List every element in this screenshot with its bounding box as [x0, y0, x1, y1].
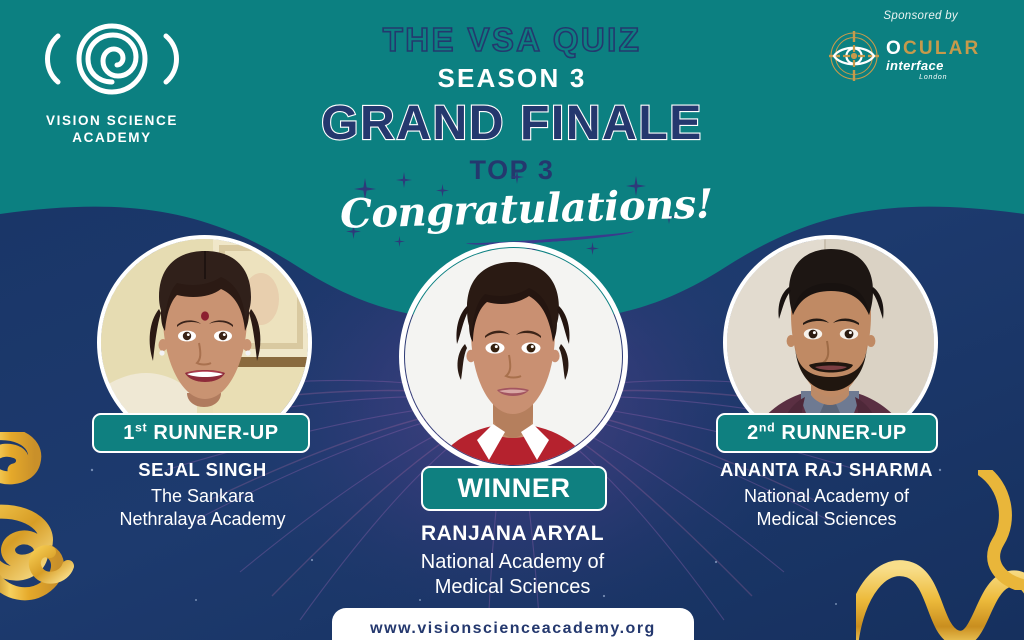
person-name-3: ANANTA RAJ SHARMA	[684, 458, 969, 482]
person-affiliation-3a: National Academy of	[684, 484, 969, 509]
person-winner: RANJANA ARYAL National Academy of Medica…	[370, 520, 655, 601]
four-point-star-icon	[586, 242, 599, 255]
headline-block: THE VSA QUIZ SEASON 3 GRAND FINALE TOP 3	[0, 20, 1024, 186]
four-point-star-icon	[394, 236, 405, 247]
badge-second-runner-up: 2nd RUNNER-UP	[716, 413, 938, 453]
badge-first-runner-up-label: 1st RUNNER-UP	[123, 422, 279, 445]
badge-first-runner-up: 1st RUNNER-UP	[92, 413, 310, 453]
photo-winner	[405, 248, 622, 465]
headline-quiz: THE VSA QUIZ	[0, 20, 1024, 60]
four-point-star-icon	[396, 172, 412, 188]
badge-rank-1st: 1st	[123, 422, 147, 444]
badge-rank-suffix-2: RUNNER-UP	[775, 422, 907, 444]
badge-winner-label: WINNER	[457, 473, 570, 504]
badge-rank-2nd: 2nd	[747, 422, 775, 444]
person-affiliation-2a: National Academy of	[370, 549, 655, 576]
badge-rank-suffix-1: RUNNER-UP	[147, 422, 279, 444]
person-affiliation-2b: Medical Sciences	[370, 574, 655, 601]
footer-url-text[interactable]: www.visionscienceacademy.org	[370, 620, 656, 638]
gold-ribbon-streamer-icon-right-edge	[978, 470, 1024, 595]
four-point-star-icon	[510, 170, 524, 184]
headline-season: SEASON 3	[0, 61, 1024, 95]
gold-ribbon-streamer-icon-left	[0, 432, 118, 640]
footer-url-pill[interactable]: www.visionscienceacademy.org	[332, 608, 694, 640]
congratulations-block: Congratulations!	[340, 184, 684, 246]
congratulations-text: Congratulations!	[339, 181, 684, 238]
person-name-2: RANJANA ARYAL	[370, 520, 655, 547]
badge-second-runner-up-label: 2nd RUNNER-UP	[747, 422, 907, 445]
badge-winner: WINNER	[421, 466, 607, 511]
poster-canvas: VISION SCIENCE ACADEMY Sponsored by	[0, 0, 1024, 640]
headline-finale: GRAND FINALE	[0, 96, 1024, 152]
